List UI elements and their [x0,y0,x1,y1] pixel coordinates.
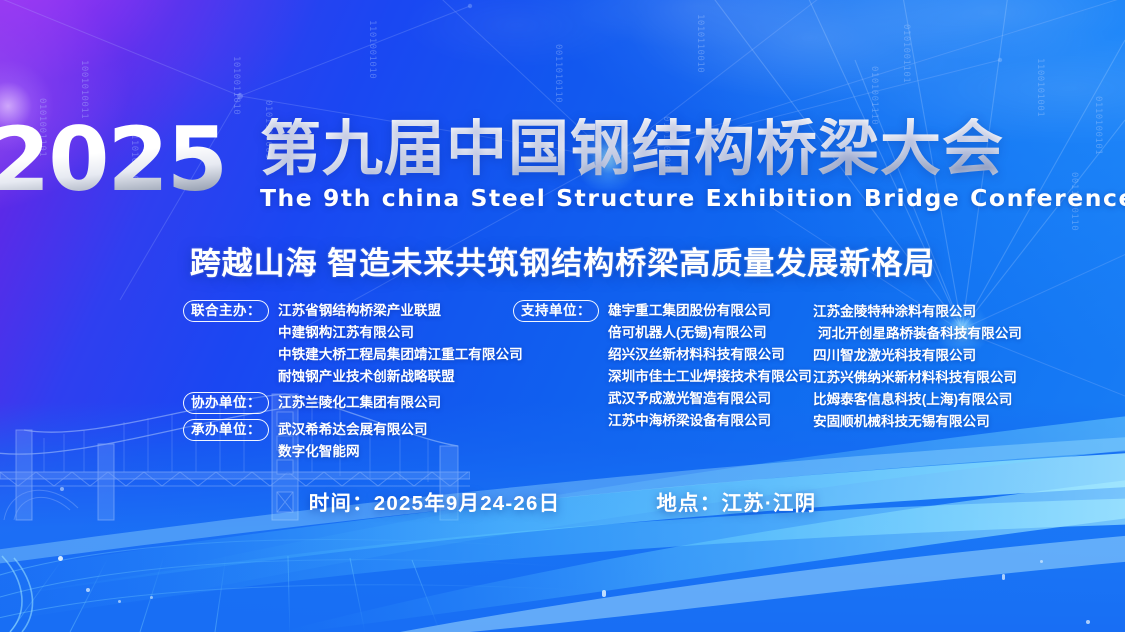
list-item: 江苏兰陵化工集团有限公司 [278,392,441,414]
list-item: 武汉予成激光智造有限公司 [608,388,812,410]
supporters-row: 支持单位： 雄宇重工集团股份有限公司 倍可机器人(无锡)有限公司 绍兴汉丝新材料… [513,300,813,432]
year-2025: 2025 [0,118,242,202]
list-item: 深圳市佳士工业焊接技术有限公司 [608,366,812,388]
list-item: 比姆泰客信息科技(上海)有限公司 [813,389,1053,411]
conference-banner: 0101001101 1001010011 0110100101 1010011… [0,0,1125,632]
list-item: 中铁建大桥工程局集团靖江重工有限公司 [278,344,523,366]
list-item: 安固顺机械科技无锡有限公司 [813,411,1053,433]
organizers-section: 联合主办： 江苏省钢结构桥梁产业联盟 中建钢构江苏有限公司 中铁建大桥工程局集团… [183,300,1053,465]
co-host-row: 联合主办： 江苏省钢结构桥梁产业联盟 中建钢构江苏有限公司 中铁建大桥工程局集团… [183,300,513,388]
co-organizer-row: 协办单位： 江苏兰陵化工集团有限公司 [183,392,513,414]
co-host-list: 江苏省钢结构桥梁产业联盟 中建钢构江苏有限公司 中铁建大桥工程局集团靖江重工有限… [269,300,523,388]
event-date: 时间：2025年9月24-26日 [309,486,561,516]
co-host-label: 联合主办： [183,300,269,322]
co-organizer-list: 江苏兰陵化工集团有限公司 [269,392,441,414]
supporters-right-column: 江苏金陵特种涂料有限公司 河北开创星路桥装备科技有限公司 四川智龙激光科技有限公… [813,300,1053,433]
supporters-middle-column: 支持单位： 雄宇重工集团股份有限公司 倍可机器人(无锡)有限公司 绍兴汉丝新材料… [513,300,813,434]
conference-title-en: The 9th china Steel Structure Exhibition… [260,184,1125,212]
list-item: 江苏兴佛纳米新材料科技有限公司 [813,367,1053,389]
list-item: 河北开创星路桥装备科技有限公司 [813,323,1053,345]
footer-info: 时间：2025年9月24-26日 地点：江苏·江阴 [0,486,1125,516]
title-block: 第九届中国钢结构桥梁大会 The 9th china Steel Structu… [242,118,1125,212]
list-item: 武汉希希达会展有限公司 [278,419,428,441]
conference-slogan: 跨越山海 智造未来共筑钢结构桥梁高质量发展新格局 [0,238,1125,283]
undertaker-row: 承办单位： 武汉希希达会展有限公司 数字化智能网 [183,419,513,463]
undertaker-list: 武汉希希达会展有限公司 数字化智能网 [269,419,428,463]
list-item: 江苏金陵特种涂料有限公司 [813,301,1053,323]
supporters-list-mid: 雄宇重工集团股份有限公司 倍可机器人(无锡)有限公司 绍兴汉丝新材料科技有限公司… [599,300,812,432]
list-item: 数字化智能网 [278,441,428,463]
list-item: 绍兴汉丝新材料科技有限公司 [608,344,812,366]
co-organizer-label: 协办单位： [183,392,269,414]
list-item: 中建钢构江苏有限公司 [278,322,523,344]
list-item: 倍可机器人(无锡)有限公司 [608,322,812,344]
list-item: 江苏省钢结构桥梁产业联盟 [278,300,523,322]
undertaker-label: 承办单位： [183,419,269,441]
organizers-left-column: 联合主办： 江苏省钢结构桥梁产业联盟 中建钢构江苏有限公司 中铁建大桥工程局集团… [183,300,513,465]
list-item: 江苏中海桥梁设备有限公司 [608,410,812,432]
list-item: 四川智龙激光科技有限公司 [813,345,1053,367]
list-item: 耐蚀钢产业技术创新战略联盟 [278,366,523,388]
conference-title-cn: 第九届中国钢结构桥梁大会 [260,118,1125,179]
event-location: 地点：江苏·江阴 [656,486,816,516]
list-item: 雄宇重工集团股份有限公司 [608,300,812,322]
supporters-label: 支持单位： [513,300,599,322]
title-row: 2025 第九届中国钢结构桥梁大会 The 9th china Steel St… [0,118,1125,212]
